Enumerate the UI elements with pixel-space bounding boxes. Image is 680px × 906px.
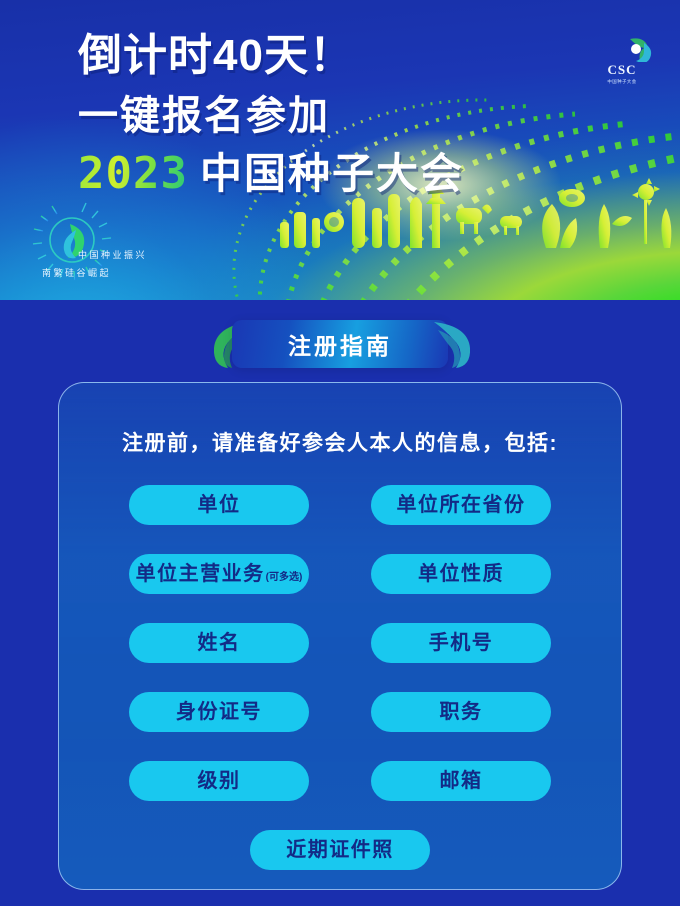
requirement-pill-label: 级别 (198, 761, 241, 801)
requirement-pill[interactable]: 单位所在省份 (371, 485, 551, 525)
requirement-pill-note: (可多选) (266, 558, 303, 598)
leaf-icon (420, 316, 478, 374)
poster-page: 倒计时40天！ 一键报名参加 2023 中国种子大会 CSC 中国种子大会 (0, 0, 680, 906)
hero-title-block: 倒计时40天！ 一键报名参加 2023 中国种子大会 (78, 34, 464, 196)
requirement-row: 近期证件照 (59, 830, 621, 870)
requirement-row: 姓名手机号 (59, 623, 621, 663)
requirement-pill-label: 近期证件照 (286, 830, 394, 870)
hero-banner: 倒计时40天！ 一键报名参加 2023 中国种子大会 CSC 中国种子大会 (0, 0, 680, 300)
emblem-slogan-line1: 中国种业振兴 (78, 248, 147, 261)
hero-title-line2: 一键报名参加 (78, 96, 464, 136)
requirement-pill-grid: 单位单位所在省份单位主营业务(可多选)单位性质姓名手机号身份证号职务级别邮箱近期… (59, 485, 621, 870)
requirement-pill-label: 单位主营业务 (136, 554, 265, 594)
requirement-row: 身份证号职务 (59, 692, 621, 732)
registration-info-card: 注册前，请准备好参会人本人的信息，包括: 单位单位所在省份单位主营业务(可多选)… (58, 382, 622, 890)
requirement-pill[interactable]: 近期证件照 (250, 830, 430, 870)
seed-industry-emblem: 中国种业振兴 南繁硅谷崛起 (18, 196, 178, 292)
requirement-pill[interactable]: 职务 (371, 692, 551, 732)
requirement-row: 单位单位所在省份 (59, 485, 621, 525)
requirement-pill-label: 单位性质 (418, 554, 504, 594)
requirement-row: 级别邮箱 (59, 761, 621, 801)
hero-title-line1: 倒计时40天！ (78, 34, 464, 78)
hero-conference-name: 中国种子大会 (200, 153, 464, 195)
requirement-pill-label: 手机号 (429, 623, 494, 663)
requirement-pill[interactable]: 身份证号 (129, 692, 309, 732)
section-banner-pill: 注册指南 (232, 320, 448, 368)
section-banner: 注册指南 (0, 320, 680, 372)
csc-swoosh-icon (586, 36, 658, 62)
requirement-pill-label: 邮箱 (440, 761, 483, 801)
requirement-pill-label: 职务 (440, 692, 483, 732)
requirement-pill[interactable]: 单位 (129, 485, 309, 525)
card-heading: 注册前，请准备好参会人本人的信息，包括: (59, 427, 621, 457)
requirement-pill[interactable]: 手机号 (371, 623, 551, 663)
section-banner-label: 注册指南 (288, 327, 392, 361)
requirement-pill-label: 身份证号 (176, 692, 262, 732)
emblem-slogan-line2: 南繁硅谷崛起 (42, 266, 111, 279)
requirement-row: 单位主营业务(可多选)单位性质 (59, 554, 621, 594)
requirement-pill-label: 单位 (198, 485, 241, 525)
requirement-pill[interactable]: 邮箱 (371, 761, 551, 801)
requirement-pill[interactable]: 级别 (129, 761, 309, 801)
csc-wordmark: CSC (586, 62, 658, 78)
hero-title-line3-row: 2023 中国种子大会 (78, 152, 464, 196)
requirement-pill[interactable]: 单位主营业务(可多选) (129, 554, 309, 594)
csc-subtitle: 中国种子大会 (586, 79, 658, 85)
hero-year: 2023 (78, 152, 188, 196)
requirement-pill-label: 姓名 (198, 623, 241, 663)
csc-logo: CSC 中国种子大会 (586, 36, 658, 80)
requirement-pill-label: 单位所在省份 (397, 485, 526, 525)
requirement-pill[interactable]: 单位性质 (371, 554, 551, 594)
requirement-pill[interactable]: 姓名 (129, 623, 309, 663)
